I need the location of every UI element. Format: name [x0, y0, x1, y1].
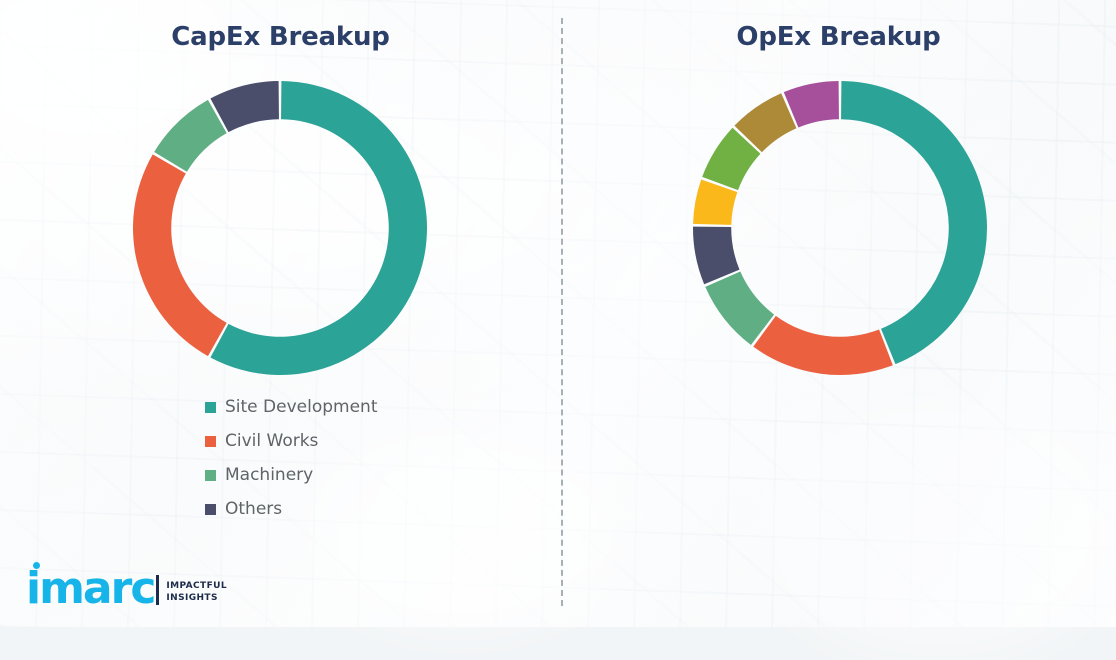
opex-donut-svg — [690, 78, 990, 378]
legend-label: Civil Works — [225, 431, 318, 451]
legend-swatch-machinery — [205, 470, 216, 481]
legend-item[interactable]: Civil Works — [205, 424, 378, 458]
slide-canvas: CapEx Breakup Site Development Civil Wor… — [0, 0, 1116, 627]
legend-item[interactable]: Machinery — [205, 458, 378, 492]
legend-label: Site Development — [225, 397, 378, 417]
capex-panel: CapEx Breakup Site Development Civil Wor… — [0, 0, 561, 627]
capex-chart-title: CapEx Breakup — [0, 22, 561, 52]
logo-divider-bar — [156, 575, 159, 605]
opex-donut-chart — [690, 78, 990, 378]
pie-slice[interactable] — [154, 100, 226, 172]
capex-legend: Site Development Civil Works Machinery O… — [205, 390, 378, 526]
logo-wordmark: imarc — [26, 569, 154, 609]
logo-tagline-line1: IMPACTFUL — [166, 580, 227, 592]
imarc-logo: imarc IMPACTFUL INSIGHTS — [26, 569, 227, 609]
legend-swatch-site-development — [205, 402, 216, 413]
legend-item[interactable]: Site Development — [205, 390, 378, 424]
legend-swatch-civil-works — [205, 436, 216, 447]
capex-donut-chart — [130, 78, 430, 378]
legend-swatch-others — [205, 504, 216, 515]
pie-slice[interactable] — [841, 81, 987, 364]
pie-slice[interactable] — [753, 316, 893, 375]
legend-label: Machinery — [225, 465, 313, 485]
opex-panel: OpEx Breakup Raw Materials Salaries and … — [561, 0, 1116, 627]
logo-tagline-line2: INSIGHTS — [166, 592, 227, 604]
opex-chart-title: OpEx Breakup — [561, 22, 1116, 52]
pie-slice[interactable] — [133, 154, 227, 356]
legend-item[interactable]: Others — [205, 492, 378, 526]
capex-donut-svg — [130, 78, 430, 378]
logo-tagline: IMPACTFUL INSIGHTS — [166, 580, 227, 604]
legend-label: Others — [225, 499, 282, 519]
